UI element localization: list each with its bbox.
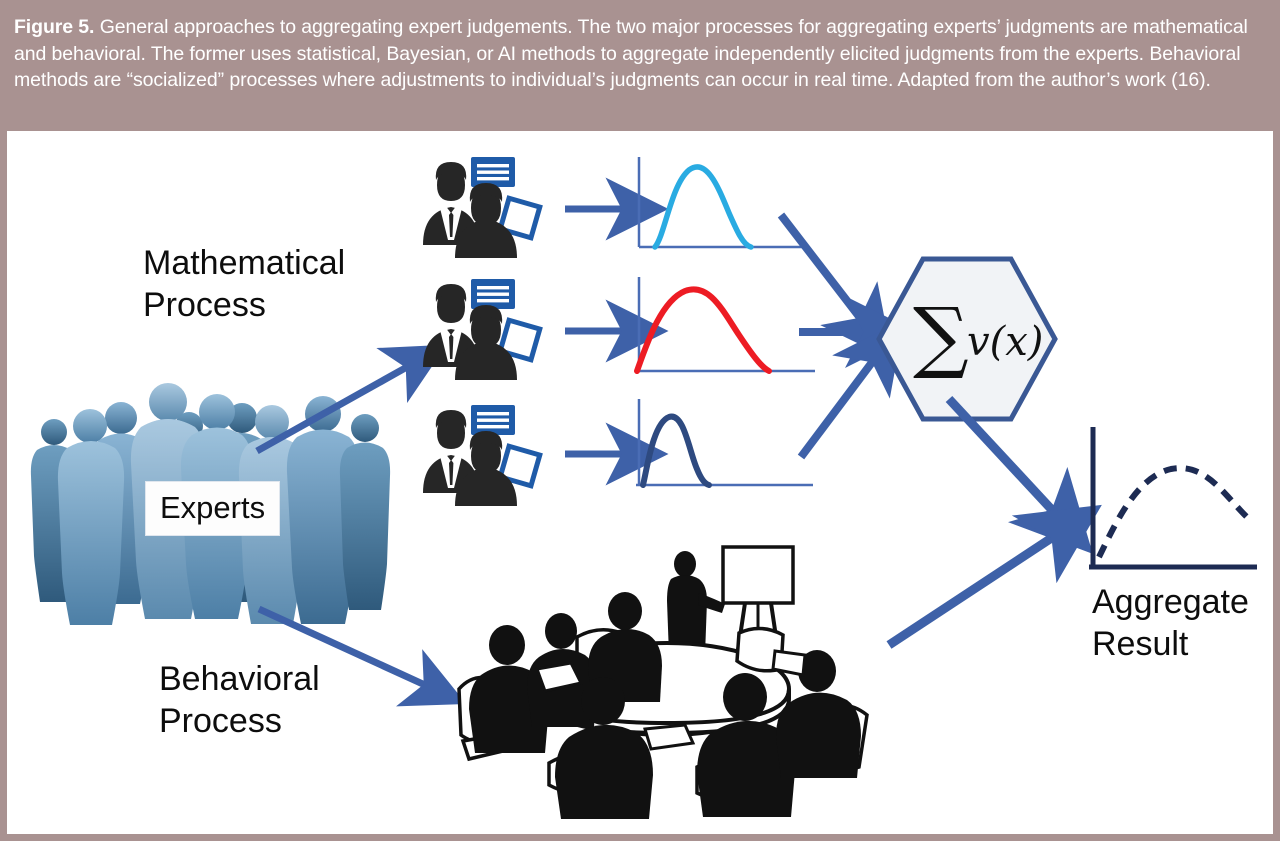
figure-page: Figure 5. General approaches to aggregat… bbox=[0, 0, 1280, 841]
arrow-chart2-to-aggregator bbox=[797, 321, 887, 343]
caption-body: General approaches to aggregating expert… bbox=[14, 16, 1248, 91]
caption-text: Figure 5. General approaches to aggregat… bbox=[14, 14, 1260, 94]
expert-pair-icon bbox=[420, 155, 550, 260]
sigma-symbol: ∑ bbox=[913, 292, 969, 382]
roundtable-meeting-icon bbox=[445, 541, 905, 831]
distribution-curve bbox=[637, 289, 769, 371]
expert-pair-icon bbox=[420, 277, 550, 382]
arrow-behavioral-to-result bbox=[885, 523, 1085, 653]
distribution-curve bbox=[643, 417, 709, 485]
aggregate-curve bbox=[1099, 468, 1251, 557]
chart-aggregate-result bbox=[1079, 421, 1264, 581]
figure-caption: Figure 5. General approaches to aggregat… bbox=[0, 0, 1280, 130]
aggregation-expression: v(x) bbox=[967, 319, 1043, 365]
experts-label-badge: Experts bbox=[145, 481, 280, 536]
presenter-figure bbox=[667, 551, 725, 655]
label-aggregate-result: Aggregate Result bbox=[1092, 581, 1249, 665]
expert-pair-icon bbox=[420, 403, 550, 508]
chart-expert-3 bbox=[627, 397, 817, 502]
arrow-to-behavioral-process bbox=[253, 597, 453, 707]
label-mathematical-process: Mathematical Process bbox=[143, 242, 345, 326]
arrow-to-mathematical-process bbox=[251, 351, 431, 461]
figure-canvas: Mathematical Process Behavioral Process … bbox=[7, 131, 1273, 834]
figure-number: Figure 5. bbox=[14, 16, 94, 38]
distribution-curve bbox=[655, 167, 751, 247]
